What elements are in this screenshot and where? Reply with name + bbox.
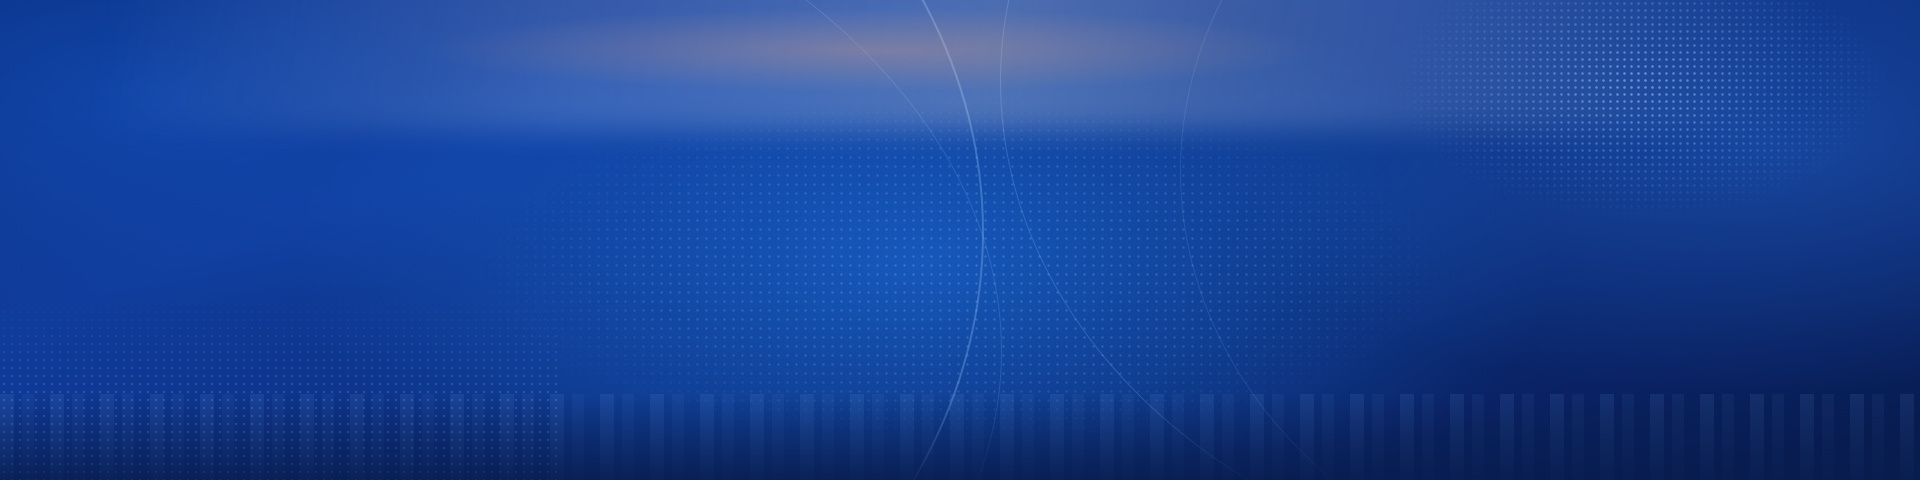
light-streak xyxy=(0,0,1920,130)
company-facilities-banner xyxy=(0,0,1920,480)
world-map-dot-grid xyxy=(0,0,1920,480)
decorative-arc xyxy=(1000,0,1920,480)
decorative-arc xyxy=(1180,0,1920,480)
world-map-dot-grid-right xyxy=(1180,0,1920,300)
warm-glow xyxy=(230,0,1510,110)
world-map-dot-grid-left xyxy=(0,260,560,480)
decorative-arc xyxy=(0,0,1002,480)
decorative-arc xyxy=(0,0,984,480)
city-skyline-silhouette xyxy=(0,394,1920,480)
